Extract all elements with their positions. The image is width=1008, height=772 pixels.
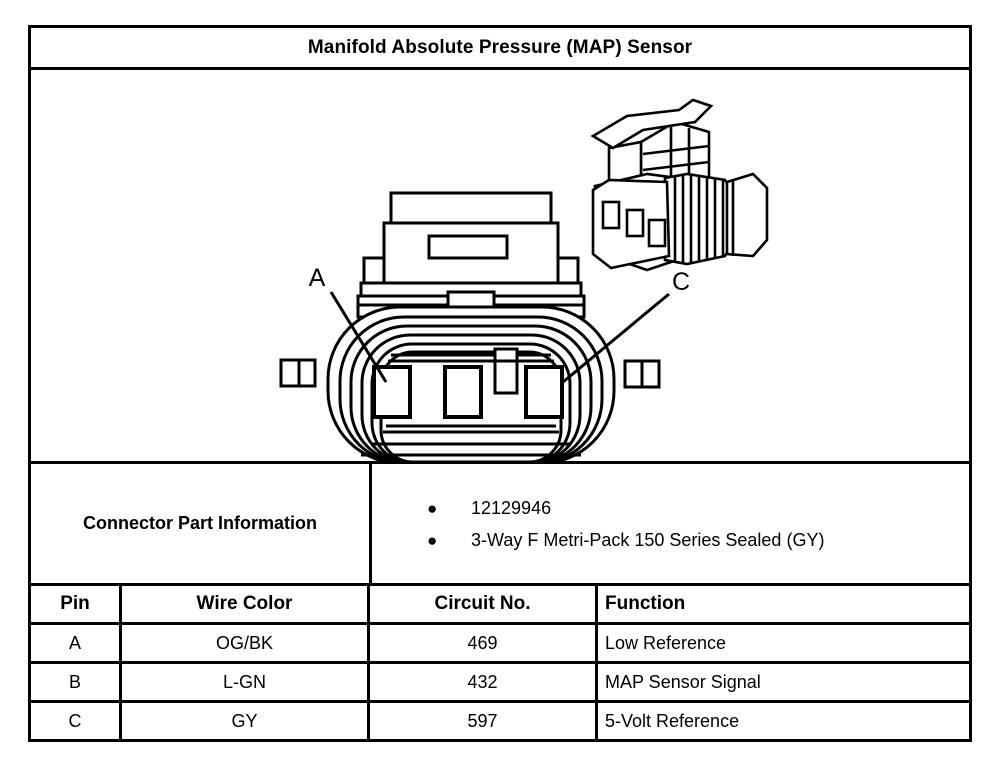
header-pin: Pin bbox=[31, 586, 122, 622]
cell-circuit-no: 597 bbox=[370, 703, 598, 739]
connector-part-number: 12129946 bbox=[471, 499, 551, 517]
connector-drawing: A C bbox=[31, 70, 969, 461]
terminal-cavity-3 bbox=[526, 367, 562, 417]
cell-circuit-no: 432 bbox=[370, 664, 598, 700]
cell-pin: C bbox=[31, 703, 122, 739]
list-item: ● 12129946 bbox=[427, 492, 969, 524]
cell-wire-color: OG/BK bbox=[122, 625, 370, 661]
cell-wire-color: GY bbox=[122, 703, 370, 739]
table-row: B L-GN 432 MAP Sensor Signal bbox=[31, 664, 969, 703]
header-wire-color: Wire Color bbox=[122, 586, 370, 622]
terminal-cavity-1 bbox=[374, 367, 410, 417]
table-row: C GY 597 5-Volt Reference bbox=[31, 703, 969, 739]
connector-part-information-label: Connector Part Information bbox=[83, 513, 317, 534]
cell-pin: A bbox=[31, 625, 122, 661]
cell-function: Low Reference bbox=[598, 625, 969, 661]
cell-function: MAP Sensor Signal bbox=[598, 664, 969, 700]
keying-notch bbox=[495, 361, 517, 393]
table-header-row: Pin Wire Color Circuit No. Function bbox=[31, 586, 969, 625]
header-circuit-no: Circuit No. bbox=[370, 586, 598, 622]
list-item: ● 3-Way F Metri-Pack 150 Series Sealed (… bbox=[427, 524, 969, 556]
connector-illustration-panel: A C bbox=[31, 70, 969, 464]
table-row: A OG/BK 469 Low Reference bbox=[31, 625, 969, 664]
callout-label-c: C bbox=[672, 268, 690, 296]
connector-part-information-row: Connector Part Information ● 12129946 ● … bbox=[31, 464, 969, 586]
connector-part-information-value-cell: ● 12129946 ● 3-Way F Metri-Pack 150 Seri… bbox=[372, 464, 969, 583]
cell-wire-color: L-GN bbox=[122, 664, 370, 700]
diagram-sheet: Manifold Absolute Pressure (MAP) Sensor bbox=[28, 25, 972, 742]
connector-description: 3-Way F Metri-Pack 150 Series Sealed (GY… bbox=[471, 531, 824, 549]
connector-part-information-label-cell: Connector Part Information bbox=[31, 464, 372, 583]
page-title: Manifold Absolute Pressure (MAP) Sensor bbox=[308, 37, 692, 59]
terminal-cavity-2 bbox=[445, 367, 481, 417]
bullet-icon: ● bbox=[427, 500, 471, 517]
connector-3d-perspective-view bbox=[593, 100, 767, 270]
header-function: Function bbox=[598, 586, 969, 622]
cell-function: 5-Volt Reference bbox=[598, 703, 969, 739]
cell-circuit-no: 469 bbox=[370, 625, 598, 661]
pin-table: Pin Wire Color Circuit No. Function A OG… bbox=[31, 586, 969, 739]
sheet-title-row: Manifold Absolute Pressure (MAP) Sensor bbox=[31, 28, 969, 70]
bullet-icon: ● bbox=[427, 532, 471, 549]
callout-label-a: A bbox=[309, 264, 326, 292]
cell-pin: B bbox=[31, 664, 122, 700]
